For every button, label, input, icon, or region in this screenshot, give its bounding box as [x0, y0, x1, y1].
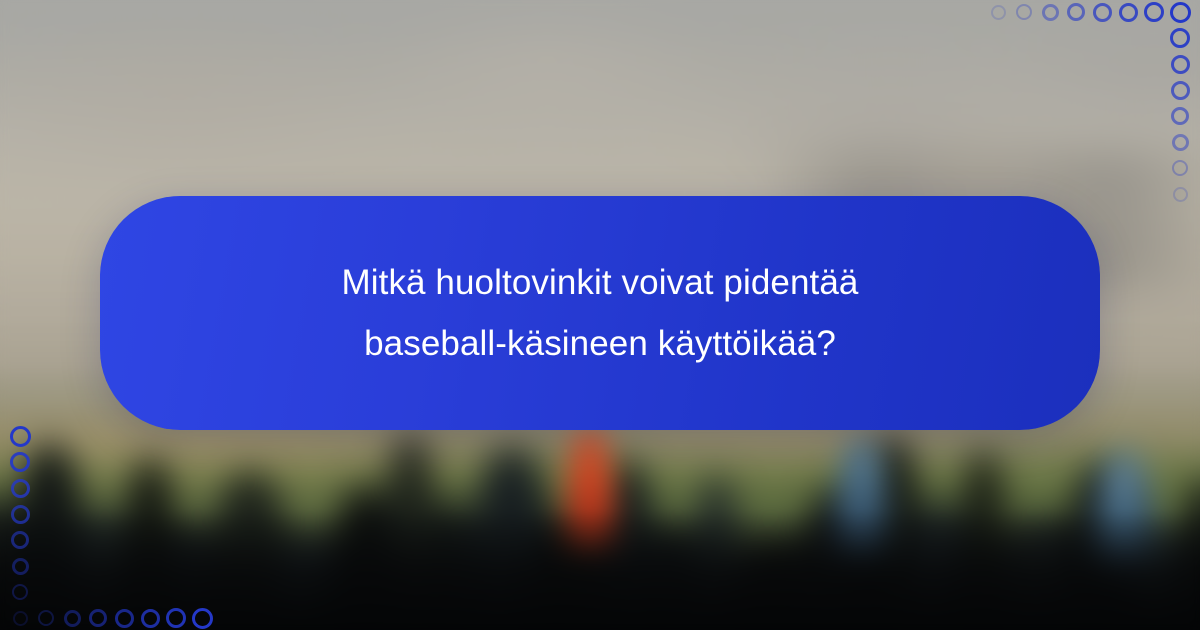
- question-card: Mitkä huoltovinkit voivat pidentää baseb…: [100, 196, 1100, 430]
- question-text: Mitkä huoltovinkit voivat pidentää baseb…: [170, 252, 1030, 374]
- background-bottom-vignette: [0, 510, 1200, 630]
- social-card-canvas: Mitkä huoltovinkit voivat pidentää baseb…: [0, 0, 1200, 630]
